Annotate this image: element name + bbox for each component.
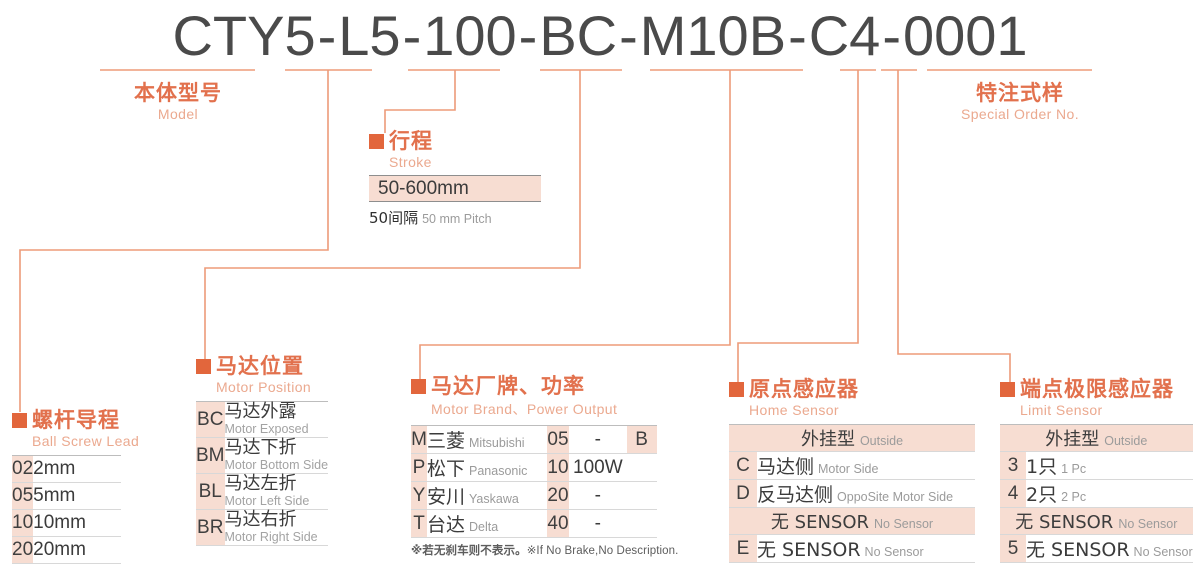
square-icon: [369, 134, 384, 149]
table-row: Y安川Yaskawa20-: [411, 482, 657, 510]
code-segment-motor-brand: M10B: [640, 3, 786, 68]
group-ball-screw-lead-title: 螺杆导程: [12, 409, 139, 431]
sensor-zh: 马达侧: [757, 456, 814, 478]
lead-value: 2mm: [33, 458, 75, 479]
group-motor-brand-power-title: 马达厂牌、功率: [411, 375, 678, 397]
sensor-en: Motor Side: [818, 462, 878, 476]
group-limit-sensor-title: 端点极限感应器: [1000, 378, 1193, 400]
sensor-section-header-en: Outside: [1104, 434, 1147, 448]
lead-code: 02: [12, 458, 33, 479]
group-ball-screw-lead-title-cn: 螺杆导程: [32, 409, 120, 431]
table-row: 055mm: [12, 483, 121, 510]
group-motor-position-title-en: Motor Position: [216, 379, 328, 395]
table-row: 022mm: [12, 456, 121, 483]
limit-sensor-table: 外挂型Outside31只1 Pc42只2 Pc无 SENSORNo Senso…: [1000, 424, 1193, 563]
product-code: CTY5-L5-100-BC-M10B-C4-0001: [0, 4, 1200, 66]
sensor-code: 3: [1008, 455, 1019, 476]
sensor-en: 1 Pc: [1061, 462, 1086, 476]
group-limit-sensor-title-en: Limit Sensor: [1020, 402, 1193, 418]
motor-position-zh: 马达下折: [225, 439, 329, 458]
sensor-code: D: [736, 483, 750, 504]
motor-brand-footnote-cn: ※若无刹车则不表示。: [411, 543, 527, 557]
square-icon: [196, 359, 211, 374]
table-row: E无 SENSORNo Sensor: [729, 535, 975, 563]
group-motor-position: 马达位置 Motor Position BC马达外露Motor ExposedB…: [196, 355, 328, 546]
code-dash: -: [880, 3, 903, 68]
lead-value: 5mm: [33, 485, 75, 506]
group-ball-screw-lead-title-en: Ball Screw Lead: [32, 433, 139, 449]
group-home-sensor-title-en: Home Sensor: [749, 402, 975, 418]
table-row: 5无 SENSORNo Sensor: [1000, 535, 1193, 563]
brand-en: Panasonic: [469, 464, 527, 478]
group-model-title-en: Model: [108, 106, 248, 122]
group-motor-brand-power-title-en: Motor Brand、Power Output: [431, 399, 678, 419]
table-row: P松下Panasonic10100W: [411, 454, 657, 482]
code-dash: -: [617, 3, 640, 68]
motor-brand-power-table: M三菱Mitsubishi05-BP松下Panasonic10100W Y安川Y…: [411, 425, 657, 538]
sensor-en: 2 Pc: [1061, 490, 1086, 504]
group-model: 本体型号 Model: [108, 82, 248, 122]
code-dash: -: [786, 3, 809, 68]
power-value: 100W: [573, 457, 623, 479]
brand-en: Yaskawa: [469, 492, 519, 506]
table-row: 2020mm: [12, 537, 121, 564]
lead-code: 20: [12, 539, 33, 560]
sensor-zh: 无 SENSOR: [757, 539, 861, 561]
group-home-sensor: 原点感应器 Home Sensor 外挂型OutsideC马达侧Motor Si…: [729, 378, 975, 563]
stroke-range-value: 50-600mm: [378, 178, 469, 200]
brand-code: P: [413, 457, 426, 478]
group-special-order-title: 特注式样: [940, 82, 1100, 104]
sensor-section-header-zh: 外挂型: [801, 429, 855, 450]
table-row: BR马达右折Motor Right Side: [196, 510, 328, 546]
motor-position-zh: 马达左折: [225, 475, 329, 494]
code-segment-sensors: C4: [809, 3, 881, 68]
brake-code: [639, 513, 644, 534]
code-dash: -: [316, 3, 339, 68]
motor-position-table: BC马达外露Motor ExposedBM马达下折Motor Bottom Si…: [196, 401, 328, 546]
group-motor-position-title: 马达位置: [196, 355, 328, 377]
group-motor-brand-power: 马达厂牌、功率 Motor Brand、Power Output M三菱Mits…: [411, 375, 678, 558]
group-motor-brand-power-title-cn: 马达厂牌、功率: [431, 375, 585, 397]
table-row: M三菱Mitsubishi05-B: [411, 426, 657, 454]
brand-code: Y: [413, 485, 426, 506]
code-dash: -: [517, 3, 540, 68]
motor-position-en: Motor Bottom Side: [225, 459, 329, 472]
motor-position-code: BL: [199, 481, 222, 502]
code-segment-model: CTY5: [172, 3, 315, 68]
brand-zh: 三菱: [427, 430, 465, 452]
lead-code: 05: [12, 485, 33, 506]
table-row: BM马达下折Motor Bottom Side: [196, 438, 328, 474]
sensor-zh: 1只: [1026, 456, 1057, 478]
group-motor-position-title-cn: 马达位置: [216, 355, 304, 377]
sensor-section-header-en: No Sensor: [1118, 517, 1177, 531]
power-value: -: [573, 513, 623, 535]
stroke-pitch-en: 50 mm Pitch: [422, 212, 491, 226]
sensor-section-header-en: Outside: [860, 434, 903, 448]
brand-zh: 松下: [427, 458, 465, 480]
square-icon: [12, 413, 27, 428]
brake-code: [639, 457, 644, 478]
sensor-en: No Sensor: [865, 545, 924, 559]
brake-code: B: [635, 429, 648, 450]
brand-en: Delta: [469, 520, 498, 534]
group-special-order: 特注式样 Special Order No.: [940, 82, 1100, 122]
group-special-order-title-en: Special Order No.: [940, 106, 1100, 122]
sensor-section-header: 外挂型Outside: [729, 425, 975, 452]
lead-code: 10: [12, 512, 33, 533]
sensor-section-header-zh: 无 SENSOR: [1015, 512, 1113, 533]
power-code: 40: [547, 513, 568, 534]
group-model-title: 本体型号: [108, 82, 248, 104]
group-special-order-title-cn: 特注式样: [976, 82, 1064, 104]
table-row: 31只1 Pc: [1000, 452, 1193, 480]
power-value: -: [573, 429, 623, 451]
lead-value: 10mm: [33, 512, 86, 533]
power-value: -: [573, 485, 623, 507]
sensor-section-header-zh: 外挂型: [1045, 429, 1099, 450]
sensor-section-header-en: No Sensor: [874, 517, 933, 531]
brand-code: T: [413, 513, 425, 534]
square-icon: [729, 382, 744, 397]
group-stroke: 行程 Stroke 50-600mm 50间隔50 mm Pitch: [369, 130, 541, 228]
sensor-en: OppoSite Motor Side: [837, 490, 953, 504]
group-limit-sensor: 端点极限感应器 Limit Sensor 外挂型Outside31只1 Pc42…: [1000, 378, 1193, 563]
sensor-code: 5: [1008, 538, 1019, 559]
table-row: 42只2 Pc: [1000, 480, 1193, 508]
table-row: BL马达左折Motor Left Side: [196, 474, 328, 510]
power-code: 05: [547, 429, 568, 450]
table-row: T台达Delta40-: [411, 510, 657, 538]
code-segment-motor-position: BC: [539, 3, 617, 68]
ball-screw-lead-table: 022mm055mm1010mm2020mm: [12, 455, 121, 564]
stroke-range-box: 50-600mm: [369, 175, 541, 202]
group-home-sensor-title: 原点感应器: [729, 378, 975, 400]
motor-brand-footnote-en: ※If No Brake,No Description.: [527, 545, 679, 557]
code-segment-lead: L5: [338, 3, 400, 68]
motor-position-code: BR: [197, 517, 223, 538]
group-stroke-title-cn: 行程: [389, 130, 433, 152]
motor-position-code: BC: [197, 409, 223, 430]
sensor-section-header: 无 SENSORNo Sensor: [729, 508, 975, 535]
group-ball-screw-lead: 螺杆导程 Ball Screw Lead 022mm055mm1010mm202…: [12, 409, 139, 564]
code-dash: -: [401, 3, 424, 68]
sensor-section-header: 外挂型Outside: [1000, 425, 1193, 452]
power-code: 20: [547, 485, 568, 506]
brand-code: M: [411, 429, 427, 450]
sensor-zh: 反马达侧: [757, 484, 833, 506]
table-row: BC马达外露Motor Exposed: [196, 402, 328, 438]
motor-position-en: Motor Right Side: [225, 531, 329, 544]
motor-position-en: Motor Exposed: [225, 423, 329, 436]
stroke-pitch-note: 50间隔50 mm Pitch: [369, 207, 541, 228]
stroke-pitch-cn: 50间隔: [369, 209, 418, 227]
group-limit-sensor-title-cn: 端点极限感应器: [1020, 378, 1174, 400]
sensor-section-header: 无 SENSORNo Sensor: [1000, 508, 1193, 535]
brake-code: [639, 485, 644, 506]
group-stroke-title-en: Stroke: [389, 154, 541, 170]
motor-brand-footnote: ※若无刹车则不表示。※If No Brake,No Description.: [411, 542, 678, 558]
power-code: 10: [547, 457, 568, 478]
sensor-section-header-zh: 无 SENSOR: [771, 512, 869, 533]
group-stroke-title: 行程: [369, 130, 541, 152]
motor-position-code: BM: [196, 445, 225, 466]
code-segment-special-order: 0001: [903, 3, 1028, 68]
table-row: D反马达侧OppoSite Motor Side: [729, 480, 975, 508]
lead-value: 20mm: [33, 539, 86, 560]
brand-en: Mitsubishi: [469, 436, 525, 450]
motor-position-zh: 马达右折: [225, 511, 329, 530]
sensor-en: No Sensor: [1134, 545, 1193, 559]
model-code-diagram: CTY5-L5-100-BC-M10B-C4-0001 本体型号 Model 行…: [0, 0, 1200, 575]
group-home-sensor-title-cn: 原点感应器: [749, 378, 859, 400]
code-segment-stroke: 100: [423, 3, 516, 68]
home-sensor-table: 外挂型OutsideC马达侧Motor SideD反马达侧OppoSite Mo…: [729, 424, 975, 563]
sensor-code: C: [736, 455, 750, 476]
motor-position-zh: 马达外露: [225, 403, 329, 422]
sensor-code: E: [737, 538, 750, 559]
table-row: 1010mm: [12, 510, 121, 537]
group-model-title-cn: 本体型号: [134, 82, 222, 104]
brand-zh: 台达: [427, 514, 465, 536]
square-icon: [1000, 382, 1015, 397]
brand-zh: 安川: [427, 486, 465, 508]
sensor-zh: 2只: [1026, 484, 1057, 506]
table-row: C马达侧Motor Side: [729, 452, 975, 480]
motor-position-en: Motor Left Side: [225, 495, 329, 508]
sensor-zh: 无 SENSOR: [1026, 539, 1130, 561]
square-icon: [411, 379, 426, 394]
sensor-code: 4: [1008, 483, 1019, 504]
